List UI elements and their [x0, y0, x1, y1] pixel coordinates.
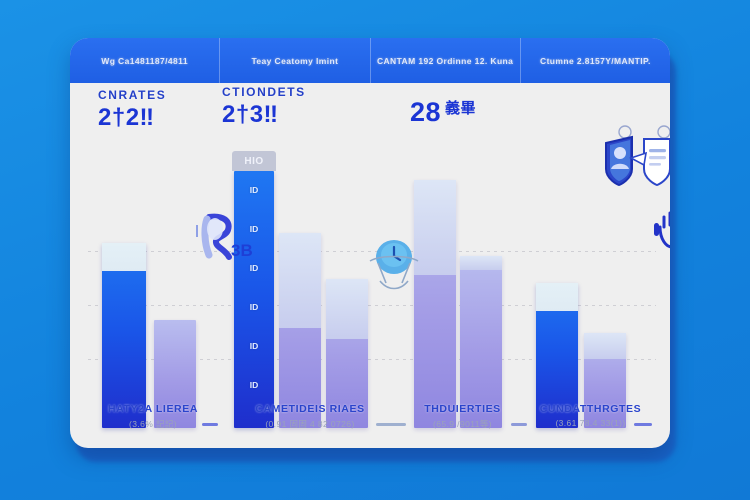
- x-label-name: CAMETIDEIS RIAES: [220, 403, 400, 415]
- bar-5-cap: [279, 233, 321, 328]
- bar-1[interactable]: [102, 243, 146, 428]
- bar-tick-label: ID: [234, 341, 274, 351]
- bar-8-tall[interactable]: [414, 180, 456, 428]
- shield-pair-icon: [598, 125, 670, 204]
- bar-tick-label: ID: [234, 302, 274, 312]
- x-label-name: HATY2A LIEREA: [78, 403, 228, 415]
- tab-reports[interactable]: Ctumne 2.8157Y/MANTIP.: [521, 38, 670, 83]
- bar-4-tall[interactable]: HIO ID ID ID ID ID ID: [234, 171, 274, 428]
- x-label-sub: (0.91 固固 4 82 0726): [220, 418, 400, 430]
- ribbon-icon: 3B: [195, 213, 253, 270]
- ribbon-icon-badge: 3B: [231, 241, 253, 261]
- x-label-group-3: THDUIERTIES (65.9 /9011等): [395, 403, 530, 430]
- x-label-name: CUNDATTHRGTES: [513, 403, 668, 415]
- bar-4-tick-labels: ID ID ID ID ID ID: [234, 171, 274, 428]
- hand-icon-svg: [652, 205, 670, 253]
- x-label-group-2: CAMETIDEIS RIAES (0.91 固固 4 82 0726): [220, 403, 400, 430]
- bar-4-top-badge: HIO: [232, 151, 276, 171]
- tab-overview[interactable]: Wg Ca1481187/4811: [70, 38, 220, 83]
- x-label-sub: (3.6% 記記): [78, 418, 228, 430]
- x-label-sub: (3.61 78.4 33(1)): [513, 418, 668, 428]
- tab-details[interactable]: CANTAM 192 Ordinne 12. Kuna: [371, 38, 521, 83]
- shield-pair-icon-svg: [598, 125, 670, 199]
- bar-tick-label: ID: [234, 185, 274, 195]
- clock-person-icon: [362, 233, 426, 300]
- x-label-name: THDUIERTIES: [395, 403, 530, 415]
- bar-9-cap: [460, 256, 502, 270]
- clock-person-icon-svg: [362, 233, 426, 295]
- bar-5[interactable]: [279, 233, 321, 428]
- bar-11-cap: [536, 283, 578, 311]
- chart-x-axis-labels: HATY2A LIEREA (3.6% 記記) CAMETIDEIS RIAES…: [70, 403, 670, 448]
- x-label-group-1: HATY2A LIEREA (3.6% 記記): [78, 403, 228, 430]
- x-label-sub: (65.9 /9011等): [395, 418, 530, 430]
- bar-1-cap: [102, 243, 146, 271]
- bar-tick-label: ID: [234, 380, 274, 390]
- card-header-tabbar: Wg Ca1481187/4811 Teay Ceatomy Imint CAN…: [70, 38, 670, 83]
- tab-summary[interactable]: Teay Ceatomy Imint: [220, 38, 370, 83]
- chart-plot-area: CNRATES 2†2‼ CTIONDETS 2†3‼ 28義畢 HIO: [70, 83, 670, 448]
- x-label-group-4: CUNDATTHRGTES (3.61 78.4 33(1)): [513, 403, 668, 428]
- bar-12-cap: [584, 333, 626, 359]
- dashboard-card: Wg Ca1481187/4811 Teay Ceatomy Imint CAN…: [70, 38, 670, 448]
- hand-icon: 漕: [652, 205, 670, 258]
